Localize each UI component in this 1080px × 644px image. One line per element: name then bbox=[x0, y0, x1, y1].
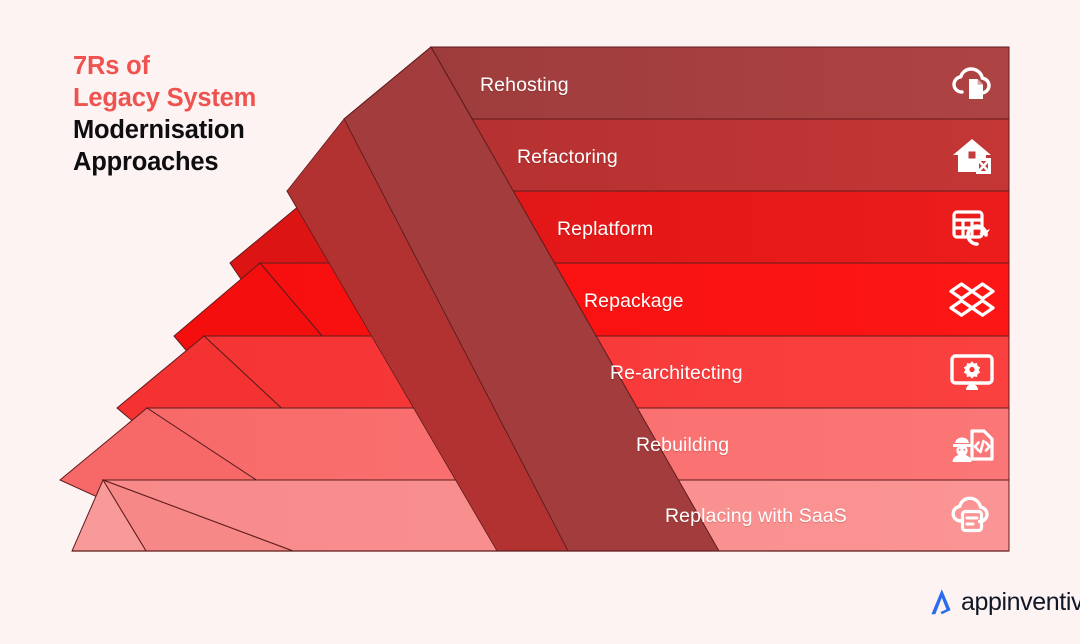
row-label-refactoring: Refactoring bbox=[517, 146, 618, 169]
monitor-gear-icon bbox=[946, 346, 998, 398]
appinventiv-mark-icon bbox=[925, 585, 959, 619]
title-line-2: Legacy System bbox=[73, 82, 393, 114]
title-line-3: Modernisation bbox=[73, 114, 393, 146]
infographic-canvas: 7Rs of Legacy System Modernisation Appro… bbox=[0, 0, 1080, 644]
table-refresh-icon bbox=[946, 202, 998, 254]
house-repair-icon bbox=[946, 130, 998, 182]
package-box-icon bbox=[946, 274, 998, 326]
page-title: 7Rs of Legacy System Modernisation Appro… bbox=[73, 50, 393, 178]
cloud-file-icon bbox=[946, 58, 998, 110]
title-line-4: Approaches bbox=[73, 146, 393, 178]
row-label-rebuilding: Rebuilding bbox=[636, 434, 729, 457]
row-label-replatform: Replatform bbox=[557, 218, 653, 241]
row-label-replacing-with-saas: Replacing with SaaS bbox=[665, 505, 847, 528]
row-label-rehosting: Rehosting bbox=[480, 74, 569, 97]
developer-code-icon bbox=[946, 418, 998, 470]
row-label-repackage: Repackage bbox=[584, 290, 684, 313]
row-label-re-architecting: Re-architecting bbox=[610, 362, 743, 385]
appinventiv-logo-text: appinventiv bbox=[961, 590, 1080, 615]
title-line-1: 7Rs of bbox=[73, 50, 393, 82]
appinventiv-logo: appinventiv bbox=[925, 585, 1080, 619]
cloud-saas-icon bbox=[946, 489, 998, 541]
